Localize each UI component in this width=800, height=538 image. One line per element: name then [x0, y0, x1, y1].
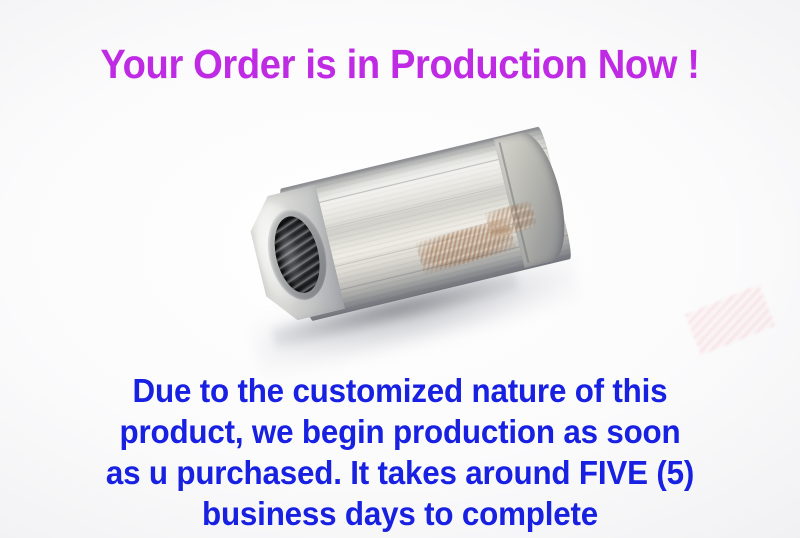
production-notice-text: Due to the customized nature of this pro… — [20, 370, 780, 534]
notice-line: as u purchased. It takes around FIVE (5) — [20, 452, 780, 493]
paper-watermark — [685, 285, 776, 356]
notice-line: business days to complete — [20, 493, 780, 534]
notice-line: Due to the customized nature of this — [20, 370, 780, 411]
notice-canvas: Your Order is in Production Now ! — [0, 0, 800, 538]
product-photo — [210, 100, 610, 370]
notice-line: product, we begin production as soon — [20, 411, 780, 452]
page-title: Your Order is in Production Now ! — [28, 44, 772, 85]
